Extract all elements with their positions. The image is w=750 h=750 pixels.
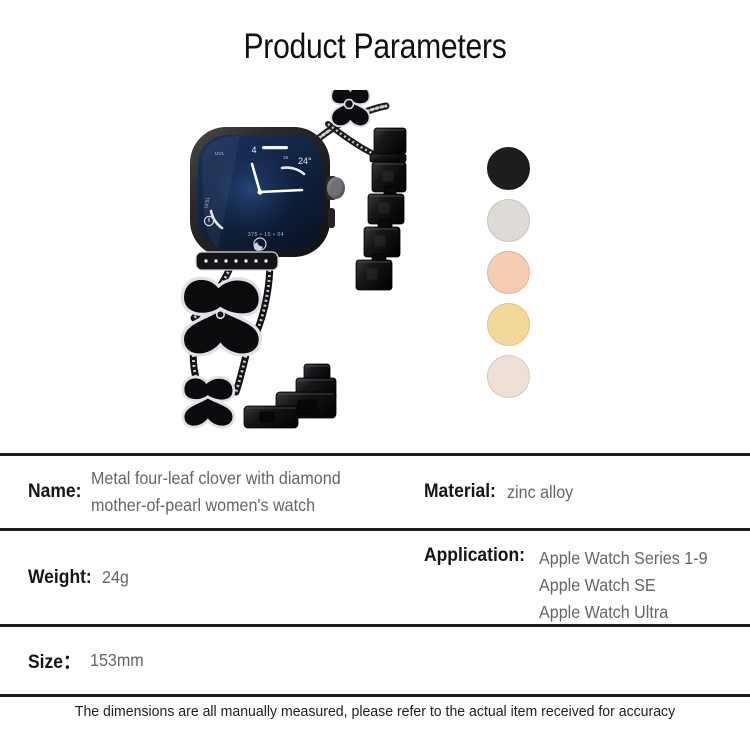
- spec-label-application: Application:: [424, 545, 525, 567]
- table-row: Name: Metal four-leaf clover with diamon…: [0, 456, 750, 528]
- band-link-chain-right: [356, 128, 406, 290]
- spec-value-line: mother-of-pearl women's watch: [91, 492, 341, 519]
- color-swatch-champagne[interactable]: [487, 355, 530, 398]
- spec-value-line: Apple Watch SE: [539, 572, 708, 599]
- spec-cell-name: Name: Metal four-leaf clover with diamon…: [0, 456, 424, 528]
- spec-label-name: Name:: [28, 481, 81, 503]
- spec-value-name: Metal four-leaf clover with diamond moth…: [91, 465, 341, 519]
- svg-text:UV1: UV1: [215, 151, 224, 156]
- spec-label-material: Material:: [424, 481, 496, 503]
- spec-value-line: Apple Watch Series 1-9: [539, 545, 708, 572]
- svg-text:4: 4: [251, 145, 256, 155]
- spec-cell-size: Size： 153mm: [0, 627, 424, 694]
- clover-charm-lower: [183, 377, 234, 427]
- page-title: Product Parameters: [53, 27, 698, 67]
- color-swatch-black[interactable]: [487, 147, 530, 190]
- table-rule-bottom: [0, 694, 750, 697]
- digital-crown: [326, 176, 345, 200]
- spec-value-material: zinc alloy: [507, 479, 573, 506]
- spec-value-line: 153mm: [90, 647, 144, 674]
- color-swatch-silver-white[interactable]: [487, 199, 530, 242]
- spec-value-line: Metal four-leaf clover with diamond: [91, 465, 341, 492]
- svg-text:24°: 24°: [298, 156, 312, 166]
- spec-value-line: zinc alloy: [507, 479, 573, 506]
- spec-cell-application: Application: Apple Watch Series 1-9 Appl…: [424, 531, 750, 624]
- band-clasp: [244, 364, 336, 428]
- color-swatch-list[interactable]: [487, 147, 533, 407]
- color-swatch-gold[interactable]: [487, 303, 530, 346]
- product-image: 4 UV1 16 24° 10:51 375 • 10 • 04: [178, 90, 428, 442]
- spec-label-weight: Weight:: [28, 567, 92, 589]
- table-row: Weight: 24g Application: Apple Watch Ser…: [0, 531, 750, 624]
- spec-table: Name: Metal four-leaf clover with diamon…: [0, 453, 750, 697]
- table-row: Size： 153mm: [0, 627, 750, 694]
- spec-label-size: Size：: [28, 647, 80, 674]
- spec-cell-weight: Weight: 24g: [0, 531, 424, 624]
- spec-cell-empty: [424, 627, 750, 694]
- spec-value-application: Apple Watch Series 1-9 Apple Watch SE Ap…: [539, 545, 708, 626]
- footer-disclaimer: The dimensions are all manually measured…: [23, 703, 728, 720]
- spec-value-line: 24g: [102, 564, 129, 591]
- color-swatch-rose-peach[interactable]: [487, 251, 530, 294]
- spec-value-size: 153mm: [90, 647, 144, 674]
- svg-text:16: 16: [283, 155, 289, 160]
- spec-value-line: Apple Watch Ultra: [539, 599, 708, 626]
- band-connector: [196, 252, 278, 270]
- spec-cell-material: Material: zinc alloy: [424, 456, 750, 528]
- spec-value-weight: 24g: [102, 564, 129, 591]
- svg-text:375 • 10 • 04: 375 • 10 • 04: [248, 232, 284, 238]
- product-hero: 4 UV1 16 24° 10:51 375 • 10 • 04: [0, 90, 750, 445]
